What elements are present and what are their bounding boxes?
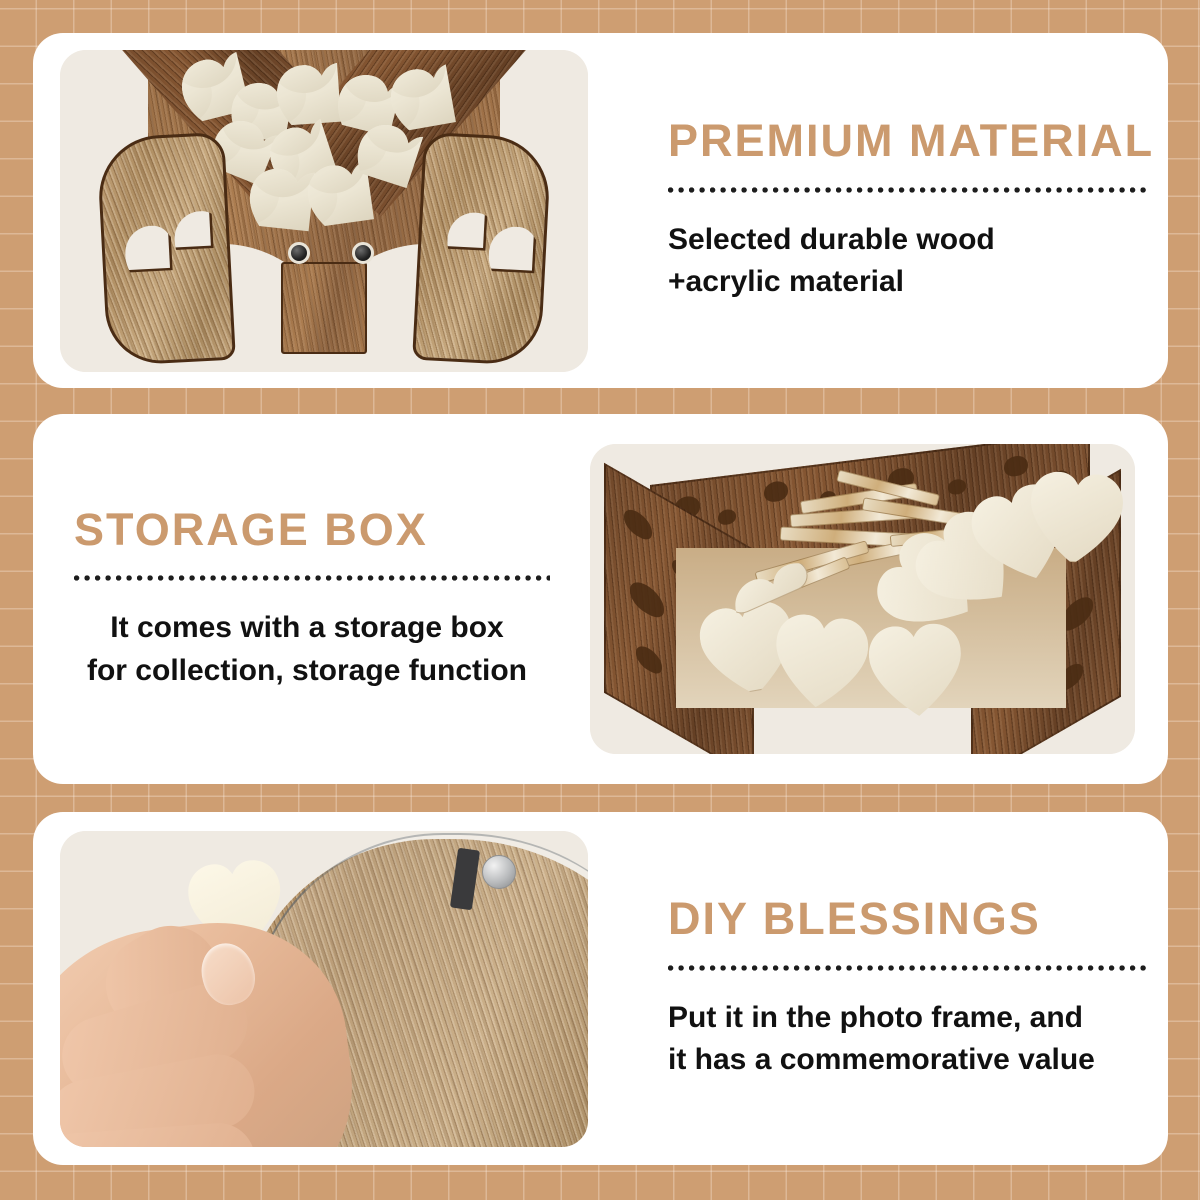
feature-card-diy-blessings: DIY BLESSINGS Put it in the photo frame,… [33,812,1168,1165]
feature-body-line: +acrylic material [668,261,1154,304]
frame-center-foot [281,262,367,354]
feature-heading: DIY BLESSINGS [668,895,1150,942]
feature-body-line: it has a commemorative value [668,1039,1150,1082]
heart-cutout [443,208,485,248]
heart-cutout [630,576,664,624]
feature-body-line: Selected durable wood [668,219,1154,262]
heart-cutout [484,222,534,270]
feature-text-diy-blessings: DIY BLESSINGS Put it in the photo frame,… [588,895,1168,1081]
heart-cutout [764,480,788,503]
dotted-divider [668,965,1150,971]
illustration-storage-box [590,444,1135,754]
feature-heading: STORAGE BOX [64,506,550,553]
frame-wing-right [412,131,552,365]
product-photo-diy-blessings [60,831,588,1147]
feature-card-premium-material: PREMIUM MATERIAL Selected durable wood +… [33,33,1168,388]
wooden-storage-box [604,452,1121,754]
product-photo-storage-box [590,444,1135,754]
heart-cutout [636,641,662,678]
feature-body-line: It comes with a storage box [64,607,550,650]
heart-cutout [948,478,966,495]
feature-text-storage-box: STORAGE BOX It comes with a storage box … [33,506,590,692]
frame-wing-left [96,131,236,365]
heart-cutout [169,207,211,247]
metal-screw [352,242,374,264]
heart-cutout [1004,455,1028,478]
metal-screw [482,855,516,889]
product-photo-premium-material [60,50,588,372]
illustration-hand-placing-heart [60,831,588,1147]
dotted-divider [668,187,1150,193]
heart-cutout [718,508,736,525]
heart-cutout [120,221,170,269]
metal-screw [288,242,310,264]
heart-cutout [624,504,652,544]
feature-heading: PREMIUM MATERIAL [668,117,1154,164]
dotted-divider [74,575,550,581]
feature-body-line: for collection, storage function [64,650,550,693]
feature-text-premium-material: PREMIUM MATERIAL Selected durable wood +… [588,117,1168,303]
feature-body-line: Put it in the photo frame, and [668,997,1150,1040]
illustration-heart-drop-frame [60,50,588,372]
feature-card-storage-box: STORAGE BOX It comes with a storage box … [33,414,1168,784]
